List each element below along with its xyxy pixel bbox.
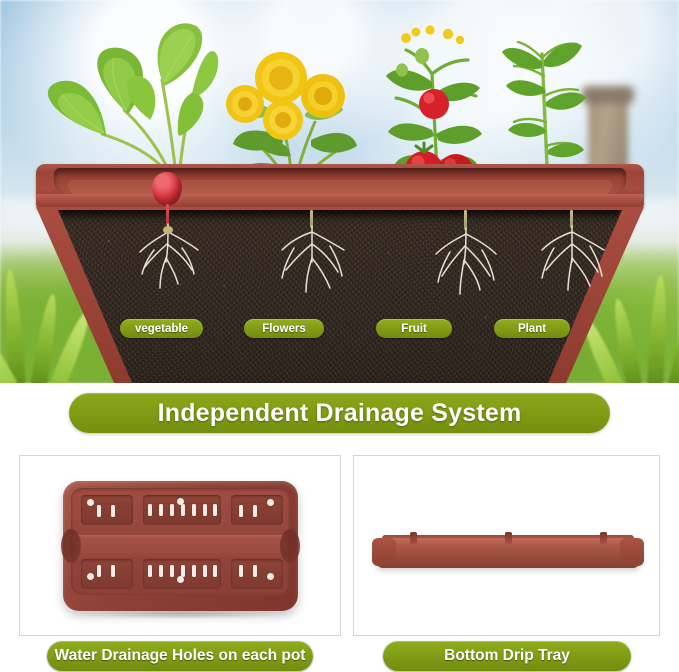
drainage-slot [253,505,257,517]
caption-text: Bottom Drip Tray [444,647,570,665]
plant-label-fruit: Fruit [376,319,452,338]
caption-text: Water Drainage Holes on each pot [55,647,306,665]
drainage-slot [213,565,217,577]
plant-label-text: Plant [518,323,546,335]
planter-rim-lip [36,194,644,209]
hero-photo: vegetable Flowers Fruit Plant [0,0,679,383]
drainage-slot [111,565,115,577]
tray-end-right [620,538,644,566]
drainage-slot [239,565,243,577]
plant-label-vegetable: vegetable [120,319,203,338]
tray-post [410,532,417,544]
drip-tray [376,534,640,570]
plant-label-flowers: Flowers [244,319,324,338]
caption-drip-tray: Bottom Drip Tray [383,641,631,671]
drainage-slot [253,565,257,577]
drainage-slot [239,505,243,517]
plant-label-text: Fruit [401,323,427,335]
drainage-slot [111,505,115,517]
drainage-slot [203,565,207,577]
drainage-slot [148,504,152,516]
drainage-slot [192,504,196,516]
panel-drip-tray [353,455,660,636]
drainage-slot [203,504,207,516]
soil-top-shadow [62,210,618,219]
drainage-slot [97,505,101,517]
planter-bottom-view [63,481,298,611]
caption-drainage-holes: Water Drainage Holes on each pot [47,641,313,671]
drainage-system-banner: Independent Drainage System [69,393,610,433]
drainage-slot [148,565,152,577]
side-recess-left [61,529,81,563]
drainage-slot [213,504,217,516]
drainage-hole [87,499,94,506]
drainage-slot [192,565,196,577]
plant-label-plant: Plant [494,319,570,338]
product-infographic: vegetable Flowers Fruit Plant Independen… [0,0,679,672]
drainage-cell-top-right [231,495,283,525]
drainage-slot [97,565,101,577]
drainage-slot [159,565,163,577]
drainage-hole [267,499,274,506]
planter-box: vegetable Flowers Fruit Plant [36,164,644,383]
root-tomato [430,226,504,296]
drainage-slot [159,504,163,516]
drainage-slot [170,504,174,516]
drainage-cell-bottom-right [231,559,283,589]
drainage-cell-bottom-center [143,559,221,589]
plant-label-text: Flowers [262,323,305,335]
tray-front-wall [376,544,640,568]
drainage-hole [177,498,184,505]
banner-title: Independent Drainage System [158,399,522,428]
planter-center-spine [73,535,288,557]
tray-post [600,532,607,544]
drainage-hole [177,576,184,583]
tray-end-left [372,538,396,566]
side-recess-right [280,529,300,563]
drainage-hole [87,573,94,580]
planter-rim-inner [54,168,626,195]
panel-drainage-holes [19,455,341,636]
drainage-slot [181,504,185,516]
pot-drop-shadow [75,609,290,619]
plant-label-text: vegetable [135,323,188,335]
root-sunflower [276,224,350,294]
drainage-slot [170,565,174,577]
root-radish [132,222,206,292]
tray-post [505,532,512,544]
drainage-hole [267,573,274,580]
root-seedling [536,224,610,294]
